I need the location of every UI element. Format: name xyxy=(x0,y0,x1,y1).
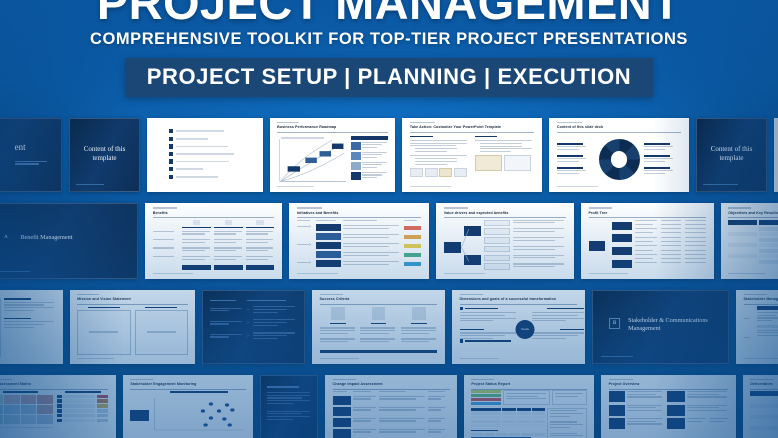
slide-heading: Deliverables xyxy=(750,382,772,386)
hero-header: PROJECT MANAGEMENT COMPREHENSIVE TOOLKIT… xyxy=(0,0,778,104)
slide-heading: Value drivers and expected benefits xyxy=(444,211,509,215)
slide-engagement-summary-panel[interactable] xyxy=(260,375,318,438)
slide-row-4: Risk Assessment Matrix xyxy=(0,375,778,438)
slide-heading: Stakeholder & Communications Management xyxy=(628,317,720,333)
page-subtitle: COMPREHENSIVE TOOLKIT FOR TOP-TIER PROJE… xyxy=(0,30,778,49)
slide-heading: Risk Assessment Matrix xyxy=(0,382,31,386)
slide-content-of-this-template-2[interactable]: Content of this template xyxy=(696,118,767,192)
slide-dimensions-and-goals-of-a-successful-transformation[interactable]: Dimensions and goals of a successful tra… xyxy=(452,290,585,364)
slide-heading: Change Impact Assessment xyxy=(333,382,383,386)
slide-success-criteria[interactable]: Success Criteria xyxy=(312,290,445,364)
goals-circle: Goals xyxy=(516,320,535,339)
slide-heading: Initiatives and Benefits xyxy=(297,211,339,215)
slide-mission-and-vision-statement[interactable]: Mission and Vision Statement xyxy=(70,290,195,364)
slide-heading: Stakeholder Management Process xyxy=(744,297,778,301)
slide-heading: Business Performance Roadmap xyxy=(277,125,336,129)
slide-heading: Content of this template xyxy=(703,145,761,163)
slide-heading: Content of this slide deck xyxy=(557,125,603,129)
slide-heading: Success Criteria xyxy=(320,297,350,301)
slide-take-action-customize-your-powerpoint-template[interactable]: Take Action: Customize Your PowerPoint T… xyxy=(402,118,542,192)
slide-section-b-stakeholder-communications-management[interactable]: B Stakeholder & Communications Managemen… xyxy=(592,290,729,364)
slide-change-impact-assessment[interactable]: Change Impact Assessment xyxy=(325,375,457,438)
slide-section-a-benefit-management[interactable]: A Benefit Management xyxy=(0,203,138,279)
slide-row-2: A Benefit Management Benefits xyxy=(0,203,778,279)
slide-heading: Project Overview xyxy=(609,382,640,386)
slide-stakeholder-management-process[interactable]: Stakeholder Management Process xyxy=(736,290,778,364)
page-title: PROJECT MANAGEMENT xyxy=(0,0,778,20)
slide-business-performance-roadmap[interactable]: Business Performance Roadmap xyxy=(270,118,395,192)
slide-project-status-report[interactable]: Project Status Report xyxy=(464,375,594,438)
phases-band-label: PROJECT SETUP | PLANNING | EXECUTION xyxy=(147,64,632,89)
slide-agenda-checklist[interactable] xyxy=(147,118,263,192)
slide-row-3: Mission and Vision Statement xyxy=(0,290,778,364)
goals-label: Goals xyxy=(521,327,529,331)
slide-profit-tree[interactable]: Profit Tree xyxy=(581,203,714,279)
slide-row-1: ent Content of this template xyxy=(0,118,778,192)
donut-chart-icon xyxy=(599,139,640,180)
header-scrim-overlay xyxy=(0,0,778,112)
slide-project-overview[interactable]: Project Overview xyxy=(601,375,736,438)
slide-heading: Stakeholder Engagement Monitoring xyxy=(130,382,196,386)
slide-content-of-this-template[interactable]: Content of this template xyxy=(69,118,140,192)
slide-heading: Objectives and Key Results (OKR) xyxy=(728,211,778,215)
slide-change-story-key-messages[interactable]: › › › xyxy=(202,290,305,364)
slide-heading: Benefit Management xyxy=(20,234,72,242)
section-letter: B xyxy=(613,321,616,326)
slide-value-drivers-and-expected-benefits[interactable]: Value drivers and expected benefits xyxy=(436,203,574,279)
slide-stakeholder-engagement-monitoring[interactable]: Stakeholder Engagement Monitoring xyxy=(123,375,253,438)
slide-heading: Project Status Report xyxy=(471,382,510,386)
slide-heading: Content of this template xyxy=(76,145,134,163)
slide-objectives-and-key-results-okr[interactable]: Objectives and Key Results (OKR) xyxy=(721,203,778,279)
slide-heading: Profit Tree xyxy=(589,211,608,215)
section-letter: A xyxy=(4,235,8,240)
slide-heading: Take Action: Customize Your PowerPoint T… xyxy=(410,125,501,129)
slide-heading: Benefits xyxy=(153,211,168,215)
presentation-preview-canvas: ent Content of this template xyxy=(0,0,778,438)
slide-agenda-checklist-2[interactable] xyxy=(774,118,778,192)
slide-risk-assessment-matrix[interactable]: Risk Assessment Matrix xyxy=(0,375,116,438)
slide-benefits[interactable]: Benefits xyxy=(145,203,282,279)
phases-band: PROJECT SETUP | PLANNING | EXECUTION xyxy=(125,58,654,97)
slide-initiatives-and-benefits[interactable]: Initiatives and Benefits › xyxy=(289,203,429,279)
slide-two-by-two-quadrants[interactable] xyxy=(0,290,63,364)
slide-content-of-this-slide-deck[interactable]: Content of this slide deck xyxy=(549,118,689,192)
slide-heading: Mission and Vision Statement xyxy=(77,297,131,301)
slide-deliverables[interactable]: Deliverables xyxy=(743,375,778,438)
slide-title-slide[interactable]: ent xyxy=(0,118,62,192)
slide-heading: Dimensions and goals of a successful tra… xyxy=(460,297,557,301)
